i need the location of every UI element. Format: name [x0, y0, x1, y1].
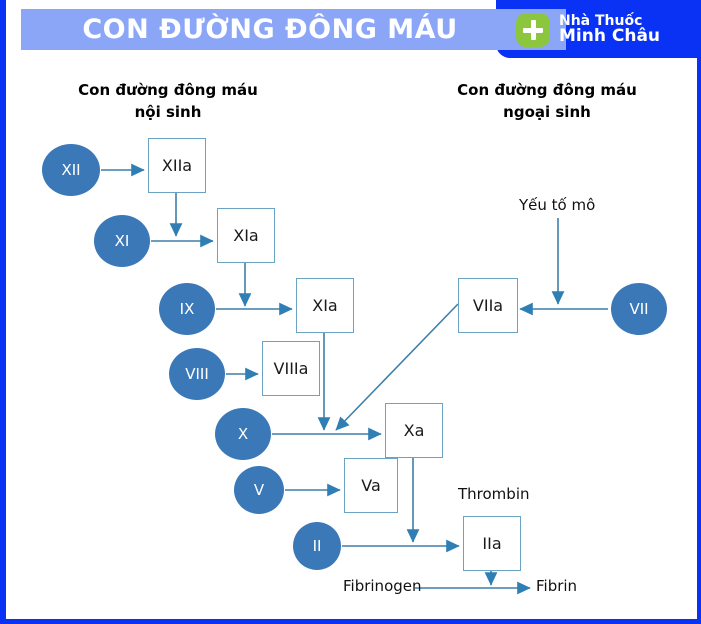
node-factor-ix[interactable]: IX	[159, 283, 215, 335]
node-factor-viia[interactable]: VIIa	[458, 278, 518, 333]
node-label: IIa	[482, 534, 501, 553]
node-label: XI	[115, 232, 130, 250]
node-label: XIIa	[162, 156, 192, 175]
green-plus-icon	[516, 13, 550, 47]
node-factor-ii[interactable]: II	[293, 522, 341, 570]
page-header: CON ĐƯỜNG ĐÔNG MÁU Nhà Thuốc Minh Châu	[0, 0, 701, 58]
node-label: VIII	[185, 365, 209, 383]
header-title-strip: CON ĐƯỜNG ĐÔNG MÁU	[21, 9, 566, 50]
node-label: Va	[361, 476, 381, 495]
node-label: XII	[61, 161, 80, 179]
node-factor-v[interactable]: V	[234, 466, 284, 514]
node-label: V	[254, 481, 264, 499]
node-label: VII	[629, 300, 648, 318]
node-factor-vii[interactable]: VII	[611, 283, 667, 335]
node-label: VIIIa	[274, 359, 309, 378]
node-label: II	[313, 537, 322, 555]
label-fibrinogen: Fibrinogen	[343, 577, 422, 595]
intrinsic-heading-line1: Con đường đông máu	[26, 80, 310, 102]
label-thrombin: Thrombin	[458, 485, 530, 503]
node-label: XIa	[312, 296, 337, 315]
intrinsic-pathway-heading: Con đường đông máu nội sinh	[26, 80, 310, 124]
label-fibrin: Fibrin	[536, 577, 577, 595]
page-title: CON ĐƯỜNG ĐÔNG MÁU	[21, 9, 519, 50]
node-factor-x[interactable]: X	[215, 408, 271, 460]
node-factor-xia-2[interactable]: XIa	[296, 278, 354, 333]
node-factor-xii[interactable]: XII	[42, 144, 100, 196]
node-label: VIIa	[473, 296, 503, 315]
node-label: X	[238, 425, 248, 443]
node-factor-xi[interactable]: XI	[94, 215, 150, 267]
extrinsic-heading-line1: Con đường đông máu	[402, 80, 692, 102]
node-label: Xa	[404, 421, 425, 440]
node-label: IX	[180, 300, 195, 318]
extrinsic-pathway-heading: Con đường đông máu ngoại sinh	[402, 80, 692, 124]
brand-name-line2: Minh Châu	[559, 28, 660, 46]
brand-name: Nhà Thuốc Minh Châu	[559, 14, 660, 46]
diagram-connectors	[6, 118, 701, 618]
node-factor-viiia[interactable]: VIIIa	[262, 341, 320, 396]
node-factor-va[interactable]: Va	[344, 458, 398, 513]
label-tissue-factor: Yếu tố mô	[519, 196, 595, 214]
node-factor-viii[interactable]: VIII	[169, 348, 225, 400]
node-factor-xia-1[interactable]: XIa	[217, 208, 275, 263]
node-factor-xiia[interactable]: XIIa	[148, 138, 206, 193]
node-label: XIa	[233, 226, 258, 245]
node-factor-xa[interactable]: Xa	[385, 403, 443, 458]
infographic-page: CON ĐƯỜNG ĐÔNG MÁU Nhà Thuốc Minh Châu C…	[0, 0, 701, 624]
brand-logo[interactable]: Nhà Thuốc Minh Châu	[516, 9, 696, 51]
node-factor-iia[interactable]: IIa	[463, 516, 521, 571]
coagulation-cascade-diagram: XII XI IX VIII X V II VII XIIa XIa XIa V…	[6, 118, 701, 618]
